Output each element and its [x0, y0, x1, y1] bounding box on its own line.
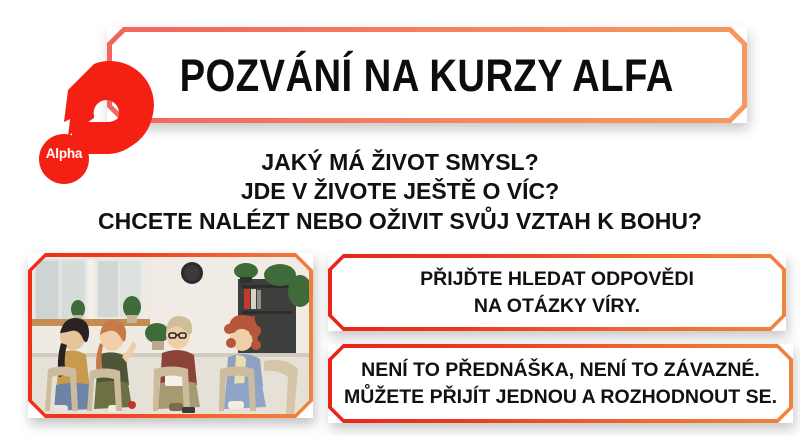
photo-card-image-clip — [32, 257, 309, 414]
info-box-no-commitment-line-2: MŮŽETE PŘIJÍT JEDNOU A ROZHODNOUT SE. — [344, 384, 777, 411]
info-box-no-commitment-line-1: NENÍ TO PŘEDNÁŠKA, NENÍ TO ZÁVAZNÉ. — [344, 357, 777, 384]
info-box-answers: PŘIJĎTE HLEDAT ODPOVĚDI NA OTÁZKY VÍRY. — [328, 254, 786, 331]
photo-card-border — [28, 253, 313, 418]
group-discussion-photo — [32, 257, 309, 414]
info-box-answers-content: PŘIJĎTE HLEDAT ODPOVĚDI NA OTÁZKY VÍRY. — [420, 266, 694, 319]
title-banner: POZVÁNÍ NA KURZY ALFA — [107, 27, 747, 123]
alpha-circle-icon — [39, 134, 89, 184]
page-title: POZVÁNÍ NA KURZY ALFA — [180, 53, 674, 98]
poster-root: Alpha POZVÁNÍ NA KURZY ALFA JAKÝ MÁ ŽIVO… — [0, 0, 800, 436]
title-banner-content: POZVÁNÍ NA KURZY ALFA — [136, 53, 717, 98]
alpha-logo — [28, 44, 158, 184]
info-box-no-commitment: NENÍ TO PŘEDNÁŠKA, NENÍ TO ZÁVAZNÉ. MŮŽE… — [328, 344, 793, 423]
question-line-3: CHCETE NALÉZT NEBO OŽIVIT SVŮJ VZTAH K B… — [0, 207, 800, 236]
info-box-answers-line-1: PŘIJĎTE HLEDAT ODPOVĚDI — [420, 266, 694, 293]
info-box-no-commitment-content: NENÍ TO PŘEDNÁŠKA, NENÍ TO ZÁVAZNÉ. MŮŽE… — [344, 357, 777, 410]
info-box-answers-line-2: NA OTÁZKY VÍRY. — [420, 293, 694, 320]
photo-card — [28, 253, 313, 418]
